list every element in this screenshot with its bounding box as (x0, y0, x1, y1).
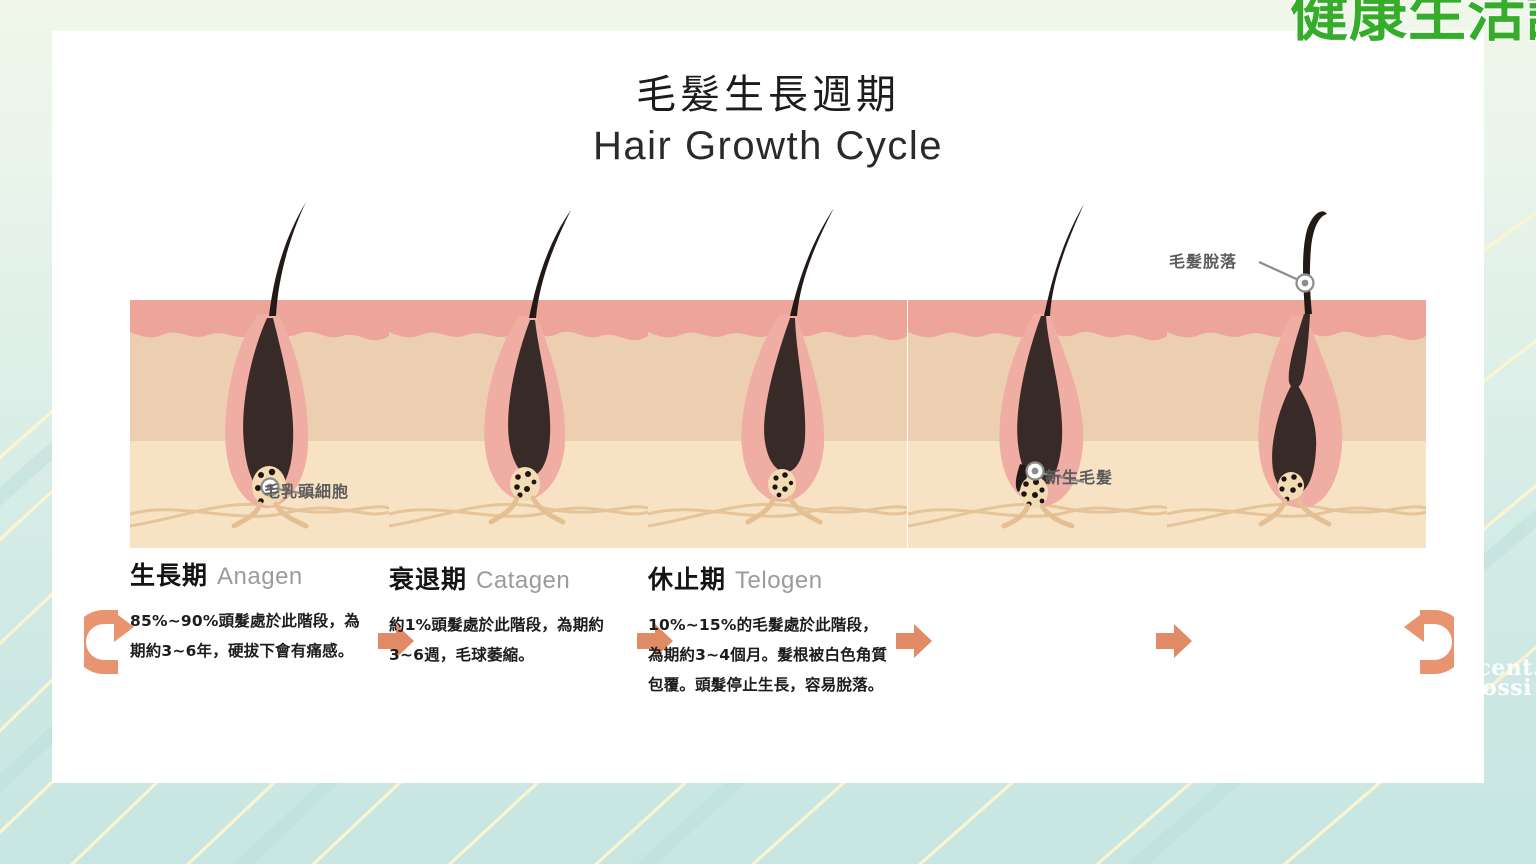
panel-shedding[interactable]: 毛髮脫落 (1167, 196, 1426, 548)
caption-heading-anagen: 生長期Anagen (130, 556, 375, 592)
caption-body-anagen: 85%~90%頭髮處於此階段，為期約3~6年，硬拔下會有痛感。 (130, 606, 375, 666)
callout-hair-shedding: 毛髮脫落 (1169, 248, 1237, 272)
caption-heading-telogen: 休止期Telogen (648, 560, 893, 596)
panel-anagen[interactable]: 毛乳頭細胞 (130, 196, 389, 548)
caption-zh-catagen: 衰退期 (389, 565, 467, 594)
panel-telogen[interactable]: decent. rossi (648, 196, 907, 548)
caption-body-catagen: 約1%頭髮處於此階段，為期約3~6週，毛球萎縮。 (389, 610, 634, 670)
diagram-row: 毛乳頭細胞 (0, 196, 1536, 556)
caption-catagen: 衰退期Catagen 約1%頭髮處於此階段，為期約3~6週，毛球萎縮。 (389, 560, 634, 670)
stage-captions: 生長期Anagen 85%~90%頭髮處於此階段，為期約3~6年，硬拔下會有痛感… (0, 556, 1536, 756)
caption-zh-anagen: 生長期 (130, 561, 208, 590)
title-english: Hair Growth Cycle (0, 121, 1536, 171)
caption-telogen: 休止期Telogen 10%~15%的毛髮處於此階段，為期約3~4個月。髮根被白… (648, 560, 893, 701)
title-chinese: 毛髮生長週期 (0, 72, 1536, 119)
caption-anagen: 生長期Anagen 85%~90%頭髮處於此階段，為期約3~6年，硬拔下會有痛感… (130, 556, 375, 666)
caption-en-telogen: Telogen (735, 567, 823, 594)
caption-body-telogen: 10%~15%的毛髮處於此階段，為期約3~4個月。髮根被白色角質包覆。頭髮停止生… (648, 610, 893, 701)
caption-heading-catagen: 衰退期Catagen (389, 560, 634, 596)
caption-en-catagen: Catagen (476, 567, 570, 594)
callout-new-hair: 新生毛髮 (1045, 464, 1113, 488)
caption-en-anagen: Anagen (217, 563, 303, 590)
caption-zh-telogen: 休止期 (648, 565, 726, 594)
panel-new-hair[interactable]: 新生毛髮 (908, 196, 1167, 548)
callout-dermal-papilla-cell: 毛乳頭細胞 (264, 478, 349, 502)
panel-catagen[interactable] (389, 196, 648, 548)
page-title: 毛髮生長週期 Hair Growth Cycle (0, 72, 1536, 171)
slide-canvas: 健康生活誌樂 毛髮生長週期 Hair Growth Cycle (0, 0, 1536, 864)
